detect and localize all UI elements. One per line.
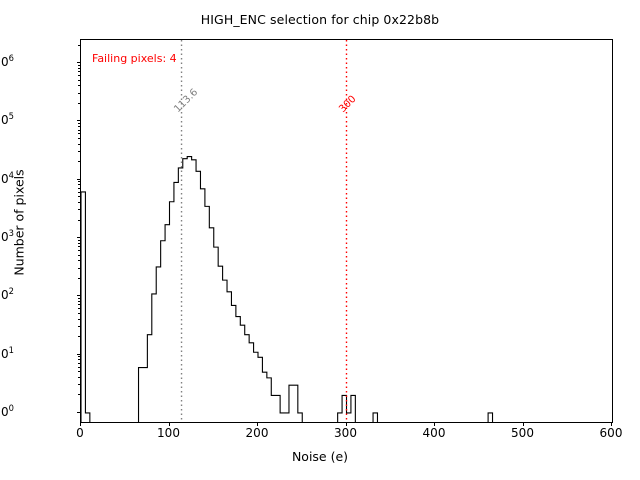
y-axis-minor-tick [78, 144, 80, 145]
page-title: HIGH_ENC selection for chip 0x22b8b [0, 12, 640, 27]
x-axis-major-tick [80, 422, 81, 426]
y-axis-minor-tick [78, 301, 80, 302]
y-axis-minor-tick [78, 126, 80, 127]
y-axis-minor-tick [78, 336, 80, 337]
y-axis-minor-tick [78, 384, 80, 385]
y-axis-minor-tick [78, 356, 80, 357]
x-tick-label: 200 [246, 426, 269, 440]
y-axis-minor-tick [78, 133, 80, 134]
y-axis-minor-tick [78, 80, 80, 81]
y-axis-minor-tick [78, 123, 80, 124]
y-axis-minor-tick [78, 93, 80, 94]
y-axis-minor-tick [78, 209, 80, 210]
x-tick-label: 500 [511, 426, 534, 440]
y-axis-minor-tick [78, 255, 80, 256]
y-axis-major-tick [77, 62, 81, 63]
y-axis-major-tick [77, 295, 81, 296]
y-axis-minor-tick [78, 130, 80, 131]
x-axis-major-tick [257, 422, 258, 426]
y-axis-minor-tick [78, 68, 80, 69]
y-axis-minor-tick [78, 367, 80, 368]
y-axis-minor-tick [78, 278, 80, 279]
y-axis-minor-tick [78, 75, 80, 76]
y-axis-minor-tick [78, 188, 80, 189]
y-axis-minor-tick [78, 371, 80, 372]
y-axis-minor-tick [78, 243, 80, 244]
y-axis-minor-tick [78, 394, 80, 395]
y-axis-minor-tick [78, 268, 80, 269]
x-axis-major-tick [169, 422, 170, 426]
x-axis-major-tick [434, 422, 435, 426]
y-axis-major-tick [77, 412, 81, 413]
x-axis-tick-labels: 0100200300400500600 [0, 426, 640, 446]
x-tick-label: 400 [423, 426, 446, 440]
y-axis-minor-tick [78, 71, 80, 72]
y-axis-minor-tick [78, 304, 80, 305]
histogram-figure: HIGH_ENC selection for chip 0x22b8b 1001… [0, 0, 640, 480]
y-axis-minor-tick [78, 220, 80, 221]
y-axis-minor-tick [78, 363, 80, 364]
y-axis-minor-tick [78, 319, 80, 320]
y-axis-minor-tick [78, 313, 80, 314]
y-axis-minor-tick [78, 260, 80, 261]
x-axis-major-tick [611, 422, 612, 426]
y-axis-major-tick [77, 237, 81, 238]
y-axis-minor-tick [78, 65, 80, 66]
x-axis-title: Noise (e) [0, 449, 640, 464]
y-axis-minor-tick [78, 377, 80, 378]
y-axis-minor-tick [78, 308, 80, 309]
x-tick-label: 100 [157, 426, 180, 440]
failing-pixels-annotation: Failing pixels: 4 [92, 52, 177, 65]
x-axis-major-tick [523, 422, 524, 426]
y-axis-major-tick [77, 179, 81, 180]
y-axis-minor-tick [78, 138, 80, 139]
x-tick-label: 300 [334, 426, 357, 440]
y-axis-title: Number of pixels [12, 63, 27, 383]
y-axis-minor-tick [78, 151, 80, 152]
y-axis-minor-tick [78, 45, 80, 46]
y-axis-major-tick [77, 120, 81, 121]
y-axis-minor-tick [78, 246, 80, 247]
y-axis-minor-tick [78, 184, 80, 185]
y-axis-minor-tick [78, 298, 80, 299]
x-tick-label: 600 [600, 426, 623, 440]
y-axis-minor-tick [78, 359, 80, 360]
y-axis-minor-tick [78, 240, 80, 241]
y-axis-minor-tick [78, 202, 80, 203]
y-axis-minor-tick [78, 161, 80, 162]
y-axis-minor-tick [78, 196, 80, 197]
y-axis-minor-tick [78, 326, 80, 327]
y-axis-minor-tick [78, 181, 80, 182]
y-axis-major-tick [77, 354, 81, 355]
histogram-step-line [81, 157, 493, 422]
x-tick-label: 0 [76, 426, 84, 440]
y-axis-minor-tick [78, 103, 80, 104]
y-tick-label: 100 [0, 404, 14, 418]
y-axis-minor-tick [78, 85, 80, 86]
y-axis-minor-tick [78, 192, 80, 193]
x-axis-major-tick [346, 422, 347, 426]
y-axis-minor-tick [78, 250, 80, 251]
